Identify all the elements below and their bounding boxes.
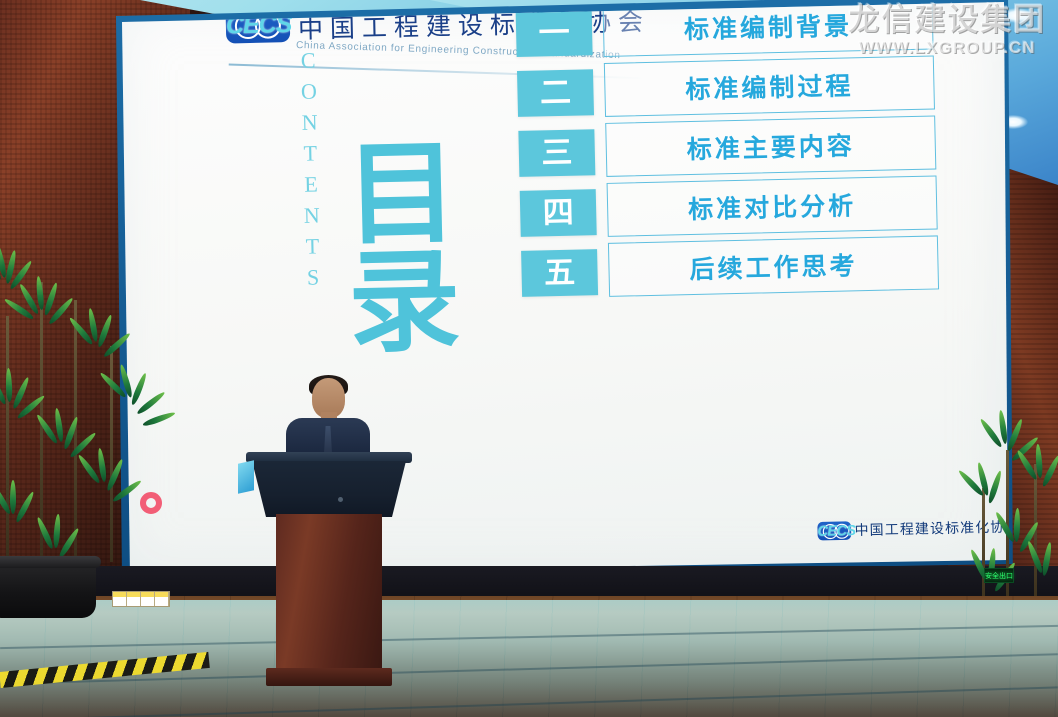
contents-title-cn: 目录 — [331, 140, 476, 358]
contents-number-5[interactable]: 五 — [521, 249, 598, 297]
watermark-url: WWW.LXGROUP.CN — [848, 38, 1046, 58]
contents-number-list: 一 二 三 四 五 — [516, 9, 598, 297]
watermark: 龙信建设集团 WWW.LXGROUP.CN — [848, 4, 1046, 58]
slide-content: CECS 中国工程建设标准化协会 China Association for E… — [105, 0, 1016, 594]
contents-item-2-label: 标准编制过程 — [685, 66, 854, 106]
contents-number-4[interactable]: 四 — [520, 189, 597, 237]
contents-number-3[interactable]: 三 — [518, 129, 595, 177]
contents-item-5-label: 后续工作思考 — [689, 246, 858, 286]
contents-item-1-label: 标准编制背景 — [684, 6, 853, 46]
contents-item-2[interactable]: 标准编制过程 — [604, 55, 935, 116]
emergency-exit-sign: 安全出口 — [984, 568, 1014, 583]
contents-number-2[interactable]: 二 — [517, 69, 594, 117]
contents-item-3[interactable]: 标准主要内容 — [605, 115, 936, 176]
conference-room-photo: CECS 中国工程建设标准化协会 China Association for E… — [0, 0, 1058, 717]
contents-item-5[interactable]: 后续工作思考 — [608, 235, 939, 296]
cecs-footer-logo-letters: CECS — [817, 522, 854, 540]
contents-number-1[interactable]: 一 — [516, 9, 593, 57]
potted-plant-left — [0, 196, 192, 596]
contents-item-4[interactable]: 标准对比分析 — [607, 175, 938, 236]
podium — [246, 452, 412, 700]
podium-front-panel — [252, 461, 406, 517]
contents-title-en: CONTENTS — [294, 47, 326, 296]
plant-pot-left — [0, 556, 96, 618]
podium-base — [266, 668, 392, 686]
potted-plant-right — [962, 392, 1058, 622]
cecs-footer-logo-icon: CECS — [817, 521, 851, 540]
contents-item-4-label: 标准对比分析 — [688, 186, 857, 226]
floor-safety-sign — [112, 591, 170, 607]
podium-badge — [238, 460, 254, 493]
contents-item-3-label: 标准主要内容 — [686, 126, 855, 166]
watermark-company: 龙信建设集团 — [848, 4, 1046, 37]
emergency-exit-label: 安全出口 — [985, 571, 1013, 581]
podium-column — [276, 514, 382, 672]
podium-microphone-icon — [338, 497, 343, 502]
